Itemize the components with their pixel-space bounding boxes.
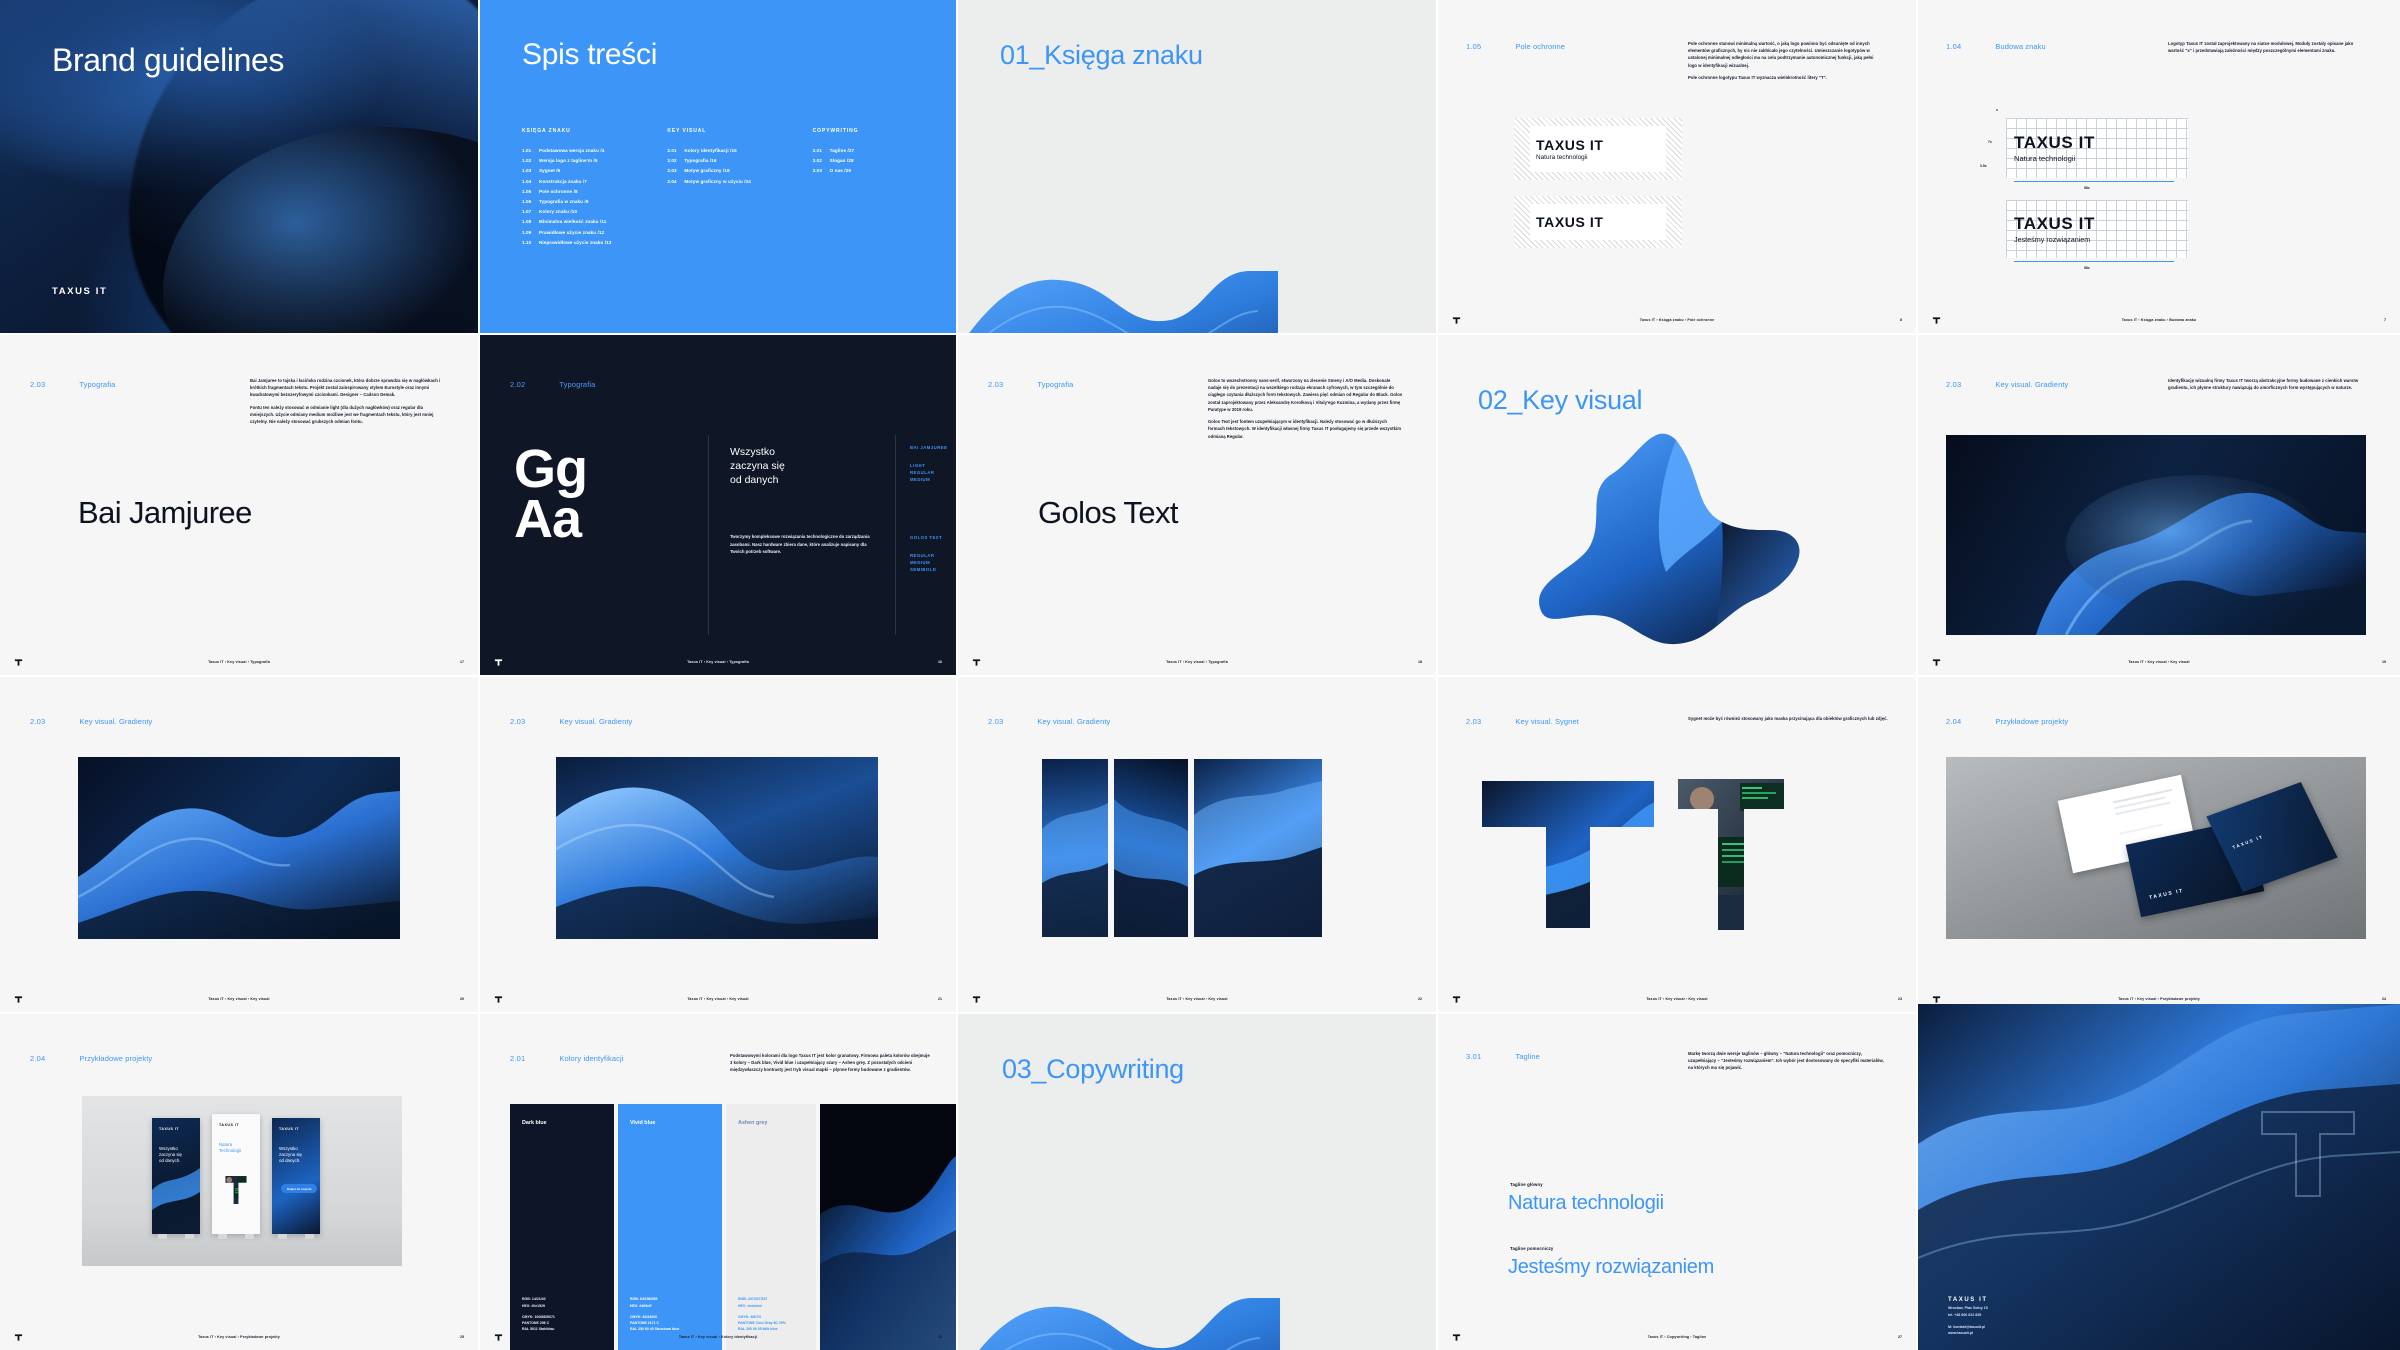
font-family-name: GOLOS TEXT	[910, 535, 942, 540]
swatch-name: Vivid blue	[630, 1120, 655, 1126]
slide-body: Sygnet może być również stosowany jako m…	[1688, 715, 1888, 722]
slide-number: 2.03	[1466, 717, 1481, 726]
toc-entry-no: 1.08	[522, 219, 539, 224]
rollup-foot	[305, 1234, 314, 1239]
toc-entry-no: 3.01	[813, 148, 830, 153]
t-logo-icon	[1932, 658, 1941, 667]
slide-przykladowe-projekty-rollup[interactable]: 2.04 Przykładowe projekty TAXUS IT Wszys…	[0, 1014, 478, 1350]
column-divider	[895, 435, 896, 635]
body-paragraph: Pole ochronne logotypu Taxus IT wyznacza…	[1688, 74, 1878, 81]
swatch-name: Dark blue	[522, 1120, 547, 1126]
width-dimension-line	[2014, 181, 2174, 182]
font-family-name: BAI JAMJUREE	[910, 445, 947, 450]
logo-wordmark: TAXUS IT	[2014, 133, 2182, 153]
t-logo-icon	[494, 995, 503, 1004]
slide-title: Przykładowe projekty	[79, 1054, 152, 1063]
width-dimension-line	[2014, 261, 2174, 262]
t-logo-icon	[1452, 1333, 1461, 1342]
swatch-cmyk: CMYK: 8/6/7/0	[738, 1315, 761, 1319]
page-number: 23	[1898, 997, 1902, 1001]
slide-gradienty-b[interactable]: 2.03 Key visual. Gradienty Taxus IT › Ke…	[0, 677, 478, 1012]
color-swatch-ashen-grey: Ashen grey RGB: 237/237/237 HEX: #ededed…	[726, 1104, 816, 1350]
rollup-cta-button[interactable]: Dołącz do zespołu	[281, 1184, 317, 1193]
logo-lockup-on-grid: TAXUS IT Natura technologii	[2014, 124, 2182, 172]
slide-title: Pole ochronne	[1515, 42, 1565, 51]
slide-footer: Taxus IT › Księga znaku › Pole ochronne …	[1438, 314, 1916, 326]
toc-entry-label: Motyw graficzny w użyciu /24	[684, 179, 751, 184]
slide-number: 2.03	[988, 717, 1003, 726]
swatch-values: RGB: 64/156/255 HEX: #409cff CMYK: 62/34…	[630, 1296, 679, 1332]
body-paragraph: Golos to wszechstronny sans-serif, stwor…	[1208, 377, 1404, 413]
breadcrumb: Taxus IT › Key visual › Typografia	[1166, 660, 1228, 664]
breadcrumb: Taxus IT › Key visual › Typografia	[687, 660, 749, 664]
toc-entry-no: 1.06	[522, 199, 539, 204]
toc-entry-label: Minimalna wielkość znaku /11	[539, 219, 606, 224]
t-logo-icon	[1452, 316, 1461, 325]
toc-column-heading: COPYWRITING	[813, 128, 930, 134]
toc-entry[interactable]: 1.04Konstrukcja znaku /7	[522, 179, 639, 184]
t-logo-icon	[494, 658, 503, 667]
swatch-cmyk: CMYK: 62/34/0/0	[630, 1315, 657, 1319]
divider-title: 01_Księga znaku	[1000, 40, 1203, 71]
toc-entry-label: Nieprawidłowe użycie znaku /13	[539, 240, 611, 245]
swatch-pantone: PANTONE 2171 C	[630, 1321, 659, 1325]
t-logo-icon	[14, 1333, 23, 1342]
slide-number: 2.03	[510, 717, 525, 726]
slide-footer: Taxus IT › Key visual › Key visual 22	[958, 993, 1436, 1005]
logo-lockup-with-tagline: TAXUS IT Natura technologii	[1530, 126, 1666, 172]
key-visual-artwork	[1946, 435, 2366, 635]
toc-entry[interactable]: 1.08Minimalna wielkość znaku /11	[522, 219, 639, 224]
slide-typografia-bai-jamjuree[interactable]: 2.03 Typografia Bai Jamjuree to tajska i…	[0, 335, 478, 675]
slide-header: 3.01 Tagline	[1466, 1052, 1540, 1061]
slide-title: Typografia	[1037, 380, 1073, 389]
swatch-rgb: RGB: 64/156/255	[630, 1297, 657, 1301]
key-visual-artwork	[556, 757, 878, 939]
fluid-blob-artwork	[958, 153, 1278, 333]
toc-entry-label: Podstawowa wersja znaku /4	[539, 148, 604, 153]
page-number: 27	[1898, 1335, 1902, 1339]
logo-wordmark: TAXUS IT	[1536, 214, 1660, 230]
slide-back-cover[interactable]: TAXUS IT Wrocław, Plac Solny 15 tel. +48…	[1918, 1004, 2400, 1350]
toc-entry-no: 3.02	[813, 158, 830, 163]
slide-header: 2.03 Key visual. Gradienty	[988, 717, 1110, 726]
slide-footer: Taxus IT › Key visual › Typografia 17	[0, 656, 478, 668]
toc-entry-no: 1.10	[522, 240, 539, 245]
t-logo-icon	[1932, 995, 1941, 1004]
slide-footer: Taxus IT › Key visual › Key visual 20	[0, 993, 478, 1005]
toc-entry-no: 2.01	[667, 148, 684, 153]
toc-entry[interactable]: 2.04Motyw graficzny w użyciu /24	[667, 179, 784, 184]
color-swatch-gradient-sample	[820, 1104, 956, 1350]
rollup-foot	[185, 1234, 194, 1239]
slide-footer: Taxus IT › Key visual › Key visual 23	[1438, 993, 1916, 1005]
body-paragraph: Markę tworzą dwie wersje taglinów – głów…	[1688, 1050, 1888, 1072]
breadcrumb: Taxus IT › Copywriting › Tagline	[1648, 1335, 1707, 1339]
slide-header: 2.02 Typografia	[510, 380, 595, 389]
cover-logo: TAXUS IT	[52, 281, 107, 299]
tagline-aux: Jesteśmy rozwiązaniem	[1508, 1256, 1714, 1279]
font-specimen: Golos Text	[1038, 495, 1178, 531]
body-paragraph: Golos Text jest fontem uzupełniającym w …	[1208, 418, 1404, 440]
toc-entry-label: Wersja logo z tagline'm /5	[539, 158, 598, 163]
logo-subline: Natura technologii	[2014, 154, 2182, 163]
swatch-cmyk: CMYK: 100/88/50/71	[522, 1315, 555, 1319]
column-divider	[708, 435, 709, 635]
toc-entry-no: 1.07	[522, 209, 539, 214]
breadcrumb: Taxus IT › Księga znaku › Pole ochronne	[1640, 318, 1714, 322]
body-paragraph: Logotyp Taxus IT został zaprojektowany n…	[2168, 40, 2368, 54]
slide-footer: Taxus IT › Key visual › Key visual 21	[480, 993, 956, 1005]
rollup-banner: TAXUS IT Natura Technologii	[212, 1114, 260, 1234]
page-number: 15	[938, 1335, 942, 1339]
slide-title: Typografia	[79, 380, 115, 389]
toc-entry-no: 1.09	[522, 230, 539, 235]
slide-footer: Taxus IT › Key visual › Key visual 19	[1918, 656, 2400, 668]
t-logo-icon	[14, 658, 23, 667]
logo-lockup-wordmark-only: TAXUS IT	[1530, 204, 1666, 240]
contact-block: Wrocław, Plac Solny 15 tel. +48 606 622 …	[1948, 1305, 1988, 1336]
slide-footer: Taxus IT › Key visual › Typografia 16	[480, 656, 956, 668]
toc-entry-no: 1.01	[522, 148, 539, 153]
toc-column-heading: KSIĘGA ZNAKU	[522, 128, 639, 134]
fluid-blob-artwork	[958, 1180, 1280, 1350]
slide-number: 2.03	[1946, 380, 1961, 389]
swatch-hex: HEX: #0e1529	[522, 1304, 545, 1308]
toc-entry[interactable]: 1.07Kolory znaku /10	[522, 209, 639, 214]
slide-header: 1.04 Budowa znaku	[1946, 42, 2046, 51]
slide-header: 2.03 Typografia	[30, 380, 115, 389]
logo-wordmark: TAXUS IT	[2014, 214, 2182, 234]
toc-entry-label: Pole ochronne /8	[539, 189, 578, 194]
toc-entry[interactable]: 1.02Wersja logo z tagline'm /5	[522, 158, 639, 163]
toc-entry[interactable]: 3.03O nas /29	[813, 168, 930, 173]
toc-entry[interactable]: 1.03Sygnet /6	[522, 168, 639, 173]
body-paragraph: Pole ochronne stanowi minimalną wartość,…	[1688, 40, 1878, 69]
glyph-specimen: Gg Aa	[514, 445, 587, 544]
slide-divider-01[interactable]: 01_Księga znaku	[958, 0, 1436, 333]
page-number: 21	[938, 997, 942, 1001]
swatch-rgb: RGB: 237/237/237	[738, 1297, 767, 1301]
slide-number: 2.03	[30, 717, 45, 726]
slide-header: 2.01 Kolory identyfikacji	[510, 1054, 624, 1063]
slide-number: 3.01	[1466, 1052, 1481, 1061]
font-weights: LIGHT REGULAR MEDIUM	[910, 463, 934, 484]
slide-table-of-contents[interactable]: Spis treści KSIĘGA ZNAKU 1.01Podstawowa …	[480, 0, 956, 333]
page-number: 7	[2384, 318, 2386, 322]
breadcrumb: Taxus IT › Key visual › Key visual	[208, 997, 269, 1001]
rollup-foot	[245, 1234, 254, 1239]
breadcrumb: Taxus IT › Key visual › Typografia	[208, 660, 270, 664]
t-logo-icon	[1452, 995, 1461, 1004]
page-number: 19	[2382, 660, 2386, 664]
toc-entry-no: 1.03	[522, 168, 539, 173]
key-visual-artwork	[78, 757, 400, 939]
slide-number: 2.03	[988, 380, 1003, 389]
slide-gradienty-d[interactable]: 2.03 Key visual. Gradienty	[958, 677, 1436, 1012]
slide-title: Budowa znaku	[1995, 42, 2045, 51]
toc-entry-no: 2.04	[667, 179, 684, 184]
slide-divider-02[interactable]: 02_Key visual	[1438, 335, 1916, 675]
toc-entry[interactable]: 2.02Typografia /16	[667, 158, 784, 163]
slide-title: Kolory identyfikacji	[559, 1054, 623, 1063]
body-paragraph: Podstawowymi kolorami dla logo Taxus IT …	[730, 1052, 930, 1074]
slide-title: Key visual. Gradienty	[559, 717, 632, 726]
subline-label: 3.5x	[1980, 164, 1987, 168]
toc-column: COPYWRITING 3.01Tagline /27 3.02Slogan /…	[813, 128, 930, 250]
slide-przykladowe-projekty-wizytowki[interactable]: 2.04 Przykładowe projekty TAXUS IT TAXUS…	[1918, 677, 2400, 1012]
business-card-mockup-scene: TAXUS IT TAXUS IT	[1946, 757, 2366, 939]
logo-lockup-on-grid-alt: TAXUS IT Jesteśmy rozwiązaniem	[2014, 206, 2182, 252]
color-swatch-vivid-blue: Vivid blue RGB: 64/156/255 HEX: #409cff …	[618, 1104, 722, 1350]
card-wordmark: TAXUS IT	[2149, 888, 2185, 901]
slide-typografia-golos[interactable]: 2.03 Typografia Golos to wszechstronny s…	[958, 335, 1436, 675]
slide-footer: Taxus IT › Copywriting › Tagline 27	[1438, 1331, 1916, 1343]
slide-typografia-dark[interactable]: 2.02 Typografia Gg Aa Wszystko zaczyna s…	[480, 335, 956, 675]
slide-title: Typografia	[559, 380, 595, 389]
toc-entry-label: Motyw graficzny /19	[684, 168, 729, 173]
breadcrumb: Taxus IT › Key visual › Kolory identyfik…	[679, 1335, 757, 1339]
breadcrumb: Taxus IT › Key visual › Key visual	[2128, 660, 2189, 664]
height-label: 7x	[1988, 140, 1992, 144]
logo-subline: Jesteśmy rozwiązaniem	[2014, 235, 2182, 244]
key-visual-panel	[1194, 759, 1322, 937]
toc-entry-label: Typografia /16	[684, 158, 716, 163]
rollup-foot	[278, 1234, 287, 1239]
swatch-values: RGB: 237/237/237 HEX: #ededed CMYK: 8/6/…	[738, 1296, 786, 1332]
breadcrumb: Taxus IT › Key visual › Przykładowe proj…	[2118, 997, 2200, 1001]
slide-number: 1.05	[1466, 42, 1481, 51]
rollup-logo: TAXUS IT	[279, 1127, 299, 1131]
rollup-foot	[158, 1234, 167, 1239]
module-label: x	[1996, 108, 1998, 112]
page-number: 25	[460, 1335, 464, 1339]
toc-entry-no: 1.02	[522, 158, 539, 163]
slide-footer: Taxus IT › Key visual › Typografia 18	[958, 656, 1436, 668]
breadcrumb: Taxus IT › Key visual › Key visual	[1166, 997, 1227, 1001]
key-visual-panel	[1042, 759, 1108, 937]
slide-number: 2.04	[1946, 717, 1961, 726]
toc-entry[interactable]: 1.10Nieprawidłowe użycie znaku /13	[522, 240, 639, 245]
swatch-hex: HEX: #ededed	[738, 1304, 762, 1308]
body-paragraph: Fontu ten należy stosować w odmianie lig…	[250, 404, 442, 426]
rollup-text: Wszystko zaczyna się od danych.	[279, 1146, 302, 1164]
t-logo-icon	[494, 1333, 503, 1342]
slide-body: Logotyp Taxus IT został zaprojektowany n…	[2168, 40, 2368, 54]
slide-header: 1.05 Pole ochronne	[1466, 42, 1565, 51]
toc-column: KEY VISUAL 2.01Kolory identyfikacji /15 …	[667, 128, 784, 250]
slide-divider-03[interactable]: 03_Copywriting	[958, 1014, 1436, 1350]
rollup-text: Natura Technologii	[219, 1142, 241, 1154]
toc-entry-no: 1.05	[522, 189, 539, 194]
slide-tagline[interactable]: 3.01 Tagline Markę tworzą dwie wersje ta…	[1438, 1014, 1916, 1350]
breadcrumb: Taxus IT › Księga znaku › Budowa znaku	[2122, 318, 2197, 322]
fluid-blob-artwork	[1526, 430, 1816, 675]
toc-column: KSIĘGA ZNAKU 1.01Podstawowa wersja znaku…	[522, 128, 639, 250]
width-label: 58x	[2084, 186, 2090, 190]
slide-title: Key visual. Gradienty	[1037, 717, 1110, 726]
page-number: 20	[460, 997, 464, 1001]
toc-entry[interactable]: 1.09Prawidłowe użycie znaku /12	[522, 230, 639, 235]
breadcrumb: Taxus IT › Key visual › Key visual	[687, 997, 748, 1001]
toc-entry-label: Tagline /27	[830, 148, 855, 153]
page-number: 24	[2382, 997, 2386, 1001]
breadcrumb: Taxus IT › Key visual › Przykładowe proj…	[198, 1335, 280, 1339]
slide-header: 2.03 Key visual. Gradienty	[510, 717, 632, 726]
toc-entry-label: Konstrukcja znaku /7	[539, 179, 587, 184]
breadcrumb: Taxus IT › Key visual › Key visual	[1646, 997, 1707, 1001]
key-visual-panel	[1114, 759, 1188, 937]
slide-body: Pole ochronne stanowi minimalną wartość,…	[1688, 40, 1878, 81]
swatch-hex: HEX: #409cff	[630, 1304, 651, 1308]
toc-entry-label: Kolory znaku /10	[539, 209, 577, 214]
page-number: 8	[1900, 318, 1902, 322]
toc-entry-no: 2.03	[667, 168, 684, 173]
swatch-pantone: PANTONE Cool Gray 8C 20%	[738, 1321, 786, 1325]
slide-body: Markę tworzą dwie wersje taglinów – głów…	[1688, 1050, 1888, 1072]
width-label: 58x	[2084, 266, 2090, 270]
slide-number: 2.04	[30, 1054, 45, 1063]
tagline-kicker-aux: Tagline pomocniczy	[1510, 1246, 1553, 1251]
back-cover-logo: TAXUS IT	[1948, 1288, 1988, 1306]
slide-header: 2.03 Key visual. Gradienty	[1946, 380, 2068, 389]
swatch-rgb: RGB: 14/21/40	[522, 1297, 546, 1301]
swatch-values: RGB: 14/21/40 HEX: #0e1529 CMYK: 100/88/…	[522, 1296, 555, 1332]
logo-subline: Natura technologii	[1536, 154, 1660, 161]
slide-title: Przykładowe projekty	[1995, 717, 2068, 726]
sygnet-mask-gradient	[1478, 777, 1658, 932]
page-number: 16	[938, 660, 942, 664]
toc-entry-label: Prawidłowe użycie znaku /12	[539, 230, 604, 235]
slide-title: Key visual. Gradienty	[1995, 380, 2068, 389]
t-logo-icon	[1932, 316, 1941, 325]
body-paragraph: Sygnet może być również stosowany jako m…	[1688, 715, 1888, 722]
slide-body: Identyfikację wizualną firmy Taxus IT tw…	[2168, 377, 2368, 391]
slide-header: 2.03 Key visual. Gradienty	[30, 717, 152, 726]
toc-entry-no: 2.02	[667, 158, 684, 163]
slide-footer: Taxus IT › Key visual › Kolory identyfik…	[480, 1331, 956, 1343]
slide-number: 2.03	[30, 380, 45, 389]
slide-title: Key visual. Sygnet	[1515, 717, 1579, 726]
divider-title: 03_Copywriting	[1002, 1054, 1184, 1085]
slide-header: 2.03 Typografia	[988, 380, 1073, 389]
wordmark: TAXUS IT	[1948, 1297, 1988, 1303]
presentation-grid: Brand guidelines TAXUS IT Spis treści KS…	[0, 0, 2400, 1350]
t-logo-icon	[14, 995, 23, 1004]
toc-entry[interactable]: 2.01Kolory identyfikacji /15	[667, 148, 784, 153]
slide-budowa-znaku[interactable]: 1.04 Budowa znaku Logotyp Taxus IT zosta…	[1918, 0, 2400, 333]
slide-key-visual-gradienty-large[interactable]: 2.03 Key visual. Gradienty Identyfikację…	[1918, 335, 2400, 675]
slide-cover[interactable]: Brand guidelines TAXUS IT	[0, 0, 478, 333]
rollup-banner: TAXUS IT Wszystko zaczyna się od danych.	[152, 1118, 200, 1234]
t-logo-icon	[972, 995, 981, 1004]
slide-number: 2.01	[510, 1054, 525, 1063]
sygnet-mask-photo	[1676, 777, 1786, 932]
page-number: 18	[1418, 660, 1422, 664]
claim-text: Wszystko zaczyna się od danych	[730, 445, 870, 487]
toc-entry[interactable]: 2.03Motyw graficzny /19	[667, 168, 784, 173]
swatch-pantone: PANTONE 296 C	[522, 1321, 549, 1325]
toc-entry-label: Kolory identyfikacji /15	[684, 148, 736, 153]
toc-columns: KSIĘGA ZNAKU 1.01Podstawowa wersja znaku…	[522, 128, 930, 250]
divider-title: 02_Key visual	[1478, 385, 1642, 416]
slide-title: Tagline	[1515, 1052, 1539, 1061]
toc-entry[interactable]: 1.06Typografia w znaku /9	[522, 199, 639, 204]
toc-entry-label: O nas /29	[830, 168, 851, 173]
tagline-main: Natura technologii	[1508, 1192, 1664, 1215]
swatch-name: Ashen grey	[738, 1120, 767, 1126]
slide-sygnet[interactable]: 2.03 Key visual. Sygnet Sygnet może być …	[1438, 677, 1916, 1012]
slide-gradienty-c[interactable]: 2.03 Key visual. Gradienty Taxus IT › Ke…	[480, 677, 956, 1012]
slide-header: 2.04 Przykładowe projekty	[1946, 717, 2068, 726]
toc-entry-no: 1.04	[522, 179, 539, 184]
slide-footer: Taxus IT › Księga znaku › Budowa znaku 7	[1918, 314, 2400, 326]
slide-body: Podstawowymi kolorami dla logo Taxus IT …	[730, 1052, 930, 1074]
supporting-text: Tworzymy kompleksowe rozwiązania technol…	[730, 533, 880, 556]
slide-number: 1.04	[1946, 42, 1961, 51]
toc-entry[interactable]: 3.02Slogan /28	[813, 158, 930, 163]
font-specimen: Bai Jamjuree	[78, 495, 252, 531]
toc-entry-no: 3.03	[813, 168, 830, 173]
rollup-logo: TAXUS IT	[219, 1123, 239, 1127]
rollup-foot	[218, 1234, 227, 1239]
slide-title: Key visual. Gradienty	[79, 717, 152, 726]
body-paragraph: Identyfikację wizualną firmy Taxus IT tw…	[2168, 377, 2368, 391]
cover-title: Brand guidelines	[52, 42, 284, 79]
toc-entry-label: Slogan /28	[830, 158, 854, 163]
slide-header: 2.03 Key visual. Sygnet	[1466, 717, 1579, 726]
rollup-mockup-scene: TAXUS IT Wszystko zaczyna się od danych.…	[82, 1096, 402, 1266]
logo-wordmark: TAXUS IT	[1536, 137, 1660, 153]
slide-body: Golos to wszechstronny sans-serif, stwor…	[1208, 377, 1404, 440]
slide-body: Bai Jamjuree to tajska i łacińska rodzin…	[250, 377, 442, 425]
body-paragraph: Bai Jamjuree to tajska i łacińska rodzin…	[250, 377, 442, 399]
page-number: 22	[1418, 997, 1422, 1001]
slide-header: 2.04 Przykładowe projekty	[30, 1054, 152, 1063]
toc-title: Spis treści	[522, 38, 657, 72]
wordmark: TAXUS IT	[52, 286, 107, 297]
color-swatch-dark-blue: Dark blue RGB: 14/21/40 HEX: #0e1529 CMY…	[510, 1104, 614, 1350]
tagline-kicker-main: Tagline główny	[1510, 1182, 1543, 1187]
toc-entry-label: Typografia w znaku /9	[539, 199, 589, 204]
toc-entry-label: Sygnet /6	[539, 168, 560, 173]
toc-column-heading: KEY VISUAL	[667, 128, 784, 134]
card-wordmark: TAXUS IT	[2232, 834, 2265, 850]
slide-pole-ochronne[interactable]: 1.05 Pole ochronne Pole ochronne stanowi…	[1438, 0, 1916, 333]
rollup-banner: TAXUS IT Wszystko zaczyna się od danych.…	[272, 1118, 320, 1234]
toc-entry[interactable]: 3.01Tagline /27	[813, 148, 930, 153]
slide-kolory-identyfikacji[interactable]: 2.01 Kolory identyfikacji Podstawowymi k…	[480, 1014, 956, 1350]
slide-footer: Taxus IT › Key visual › Przykładowe proj…	[0, 1331, 478, 1343]
color-swatch-group: Dark blue RGB: 14/21/40 HEX: #0e1529 CMY…	[510, 1104, 956, 1350]
font-weights: REGULAR MEDIUM SEMIBOLD	[910, 553, 936, 574]
toc-entry[interactable]: 1.05Pole ochronne /8	[522, 189, 639, 194]
toc-entry[interactable]: 1.01Podstawowa wersja znaku /4	[522, 148, 639, 153]
slide-number: 2.02	[510, 380, 525, 389]
page-number: 17	[460, 660, 464, 664]
t-logo-icon	[972, 658, 981, 667]
